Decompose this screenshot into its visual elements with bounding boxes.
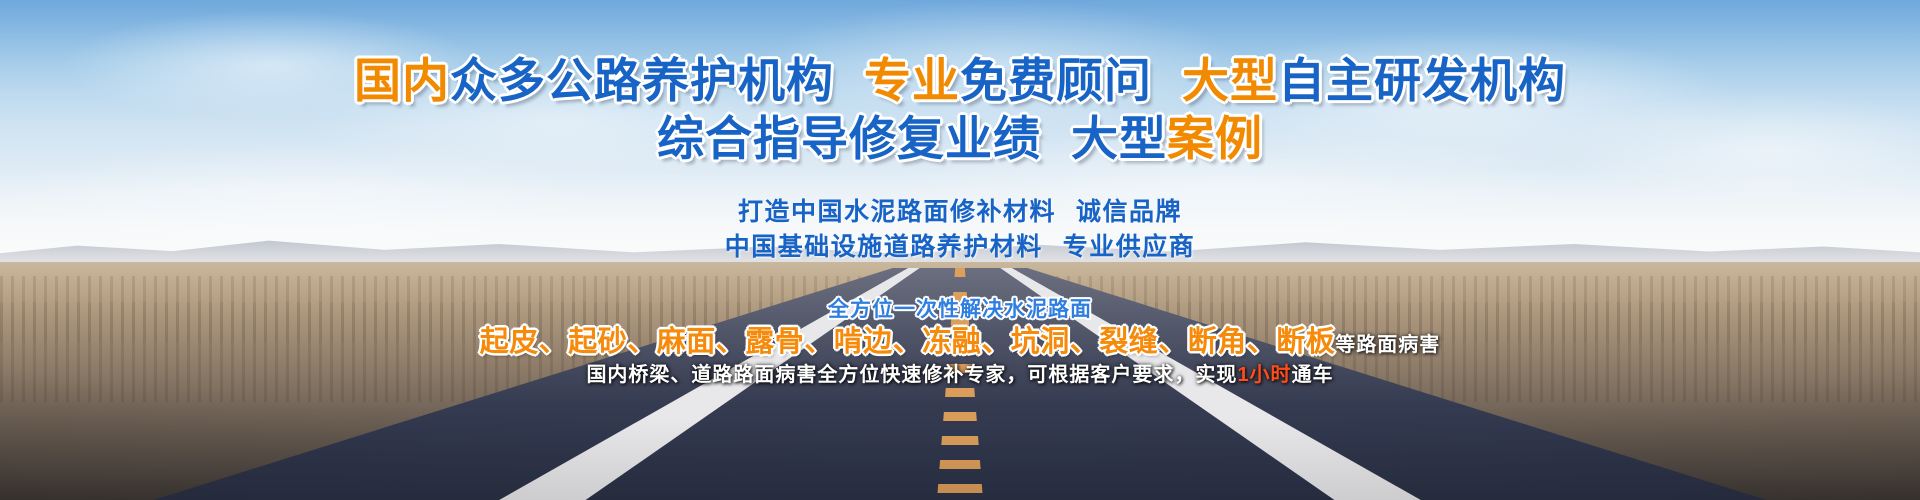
promo-line-2: 起皮、起砂、麻面、露骨、啃边、冻融、坑洞、裂缝、断角、断板等路面病害 — [0, 318, 1920, 360]
promo-seg-one-hour: 1小时 — [1237, 364, 1291, 386]
subheading-seg-material: 打造中国水泥路面修补材料 — [738, 198, 1056, 226]
subheading-line-2: 中国基础设施道路养护材料专业供应商 — [0, 227, 1920, 263]
headline-seg-guidance: 综合指导修复业绩 — [657, 112, 1041, 165]
promo-seg-defects-list: 起皮、起砂、麻面、露骨、啃边、冻融、坑洞、裂缝、断角、断板 — [480, 326, 1336, 358]
subheading-seg-supplier: 专业供应商 — [1063, 233, 1196, 261]
subheading-seg-brand: 诚信品牌 — [1076, 198, 1182, 226]
promo-seg-expert: 国内桥梁、道路路面病害全方位快速修补专家，可根据客户要求，实现 — [586, 364, 1237, 386]
headline-line-2: 综合指导修复业绩大型案例 — [0, 100, 1920, 169]
headline-seg-case: 案例 — [1167, 112, 1263, 165]
subheading-line-1: 打造中国水泥路面修补材料诚信品牌 — [0, 192, 1920, 228]
banner-content: 国内众多公路养护机构专业免费顾问大型自主研发机构 综合指导修复业绩大型案例 打造… — [0, 0, 1920, 500]
headline-seg-large: 大型 — [1071, 112, 1167, 165]
promo-seg-open-traffic: 通车 — [1292, 364, 1334, 386]
hero-banner: 国内众多公路养护机构专业免费顾问大型自主研发机构 综合指导修复业绩大型案例 打造… — [0, 0, 1920, 500]
promo-line-3: 国内桥梁、道路路面病害全方位快速修补专家，可根据客户要求，实现1小时通车 — [0, 358, 1920, 387]
subheading-seg-infrastructure: 中国基础设施道路养护材料 — [725, 233, 1043, 261]
promo-seg-defects-suffix: 等路面病害 — [1335, 334, 1440, 356]
